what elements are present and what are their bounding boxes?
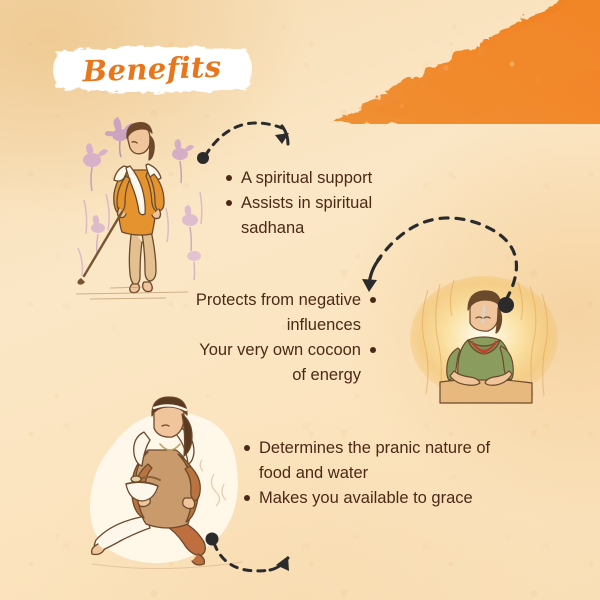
list-item: A spiritual support xyxy=(226,166,416,191)
benefit-text: Determines the pranic nature of food and… xyxy=(259,436,494,486)
list-item: Protects from negative influences xyxy=(186,288,376,338)
benefit-text: Protects from negative influences xyxy=(186,288,361,338)
seated-woman-offering-illustration xyxy=(82,388,264,580)
benefit-text: Your very own cocoon of energy xyxy=(186,338,361,388)
bullet-dot-icon xyxy=(370,347,376,353)
bullet-dot-icon xyxy=(244,445,250,451)
list-item: Your very own cocoon of energy xyxy=(186,338,376,388)
page-title: Benefits xyxy=(51,37,253,102)
bullet-dot-icon xyxy=(370,297,376,303)
list-item: Makes you available to grace xyxy=(244,486,494,511)
list-item: Determines the pranic nature of food and… xyxy=(244,436,494,486)
benefit-block-1: A spiritual support Assists in spiritual… xyxy=(226,166,416,241)
benefit-text: Assists in spiritual sadhana xyxy=(241,191,416,241)
aura-cocoon-illustration xyxy=(406,276,566,404)
benefit-text: A spiritual support xyxy=(241,166,416,191)
bullet-dot-icon xyxy=(226,175,232,181)
benefit-block-2: Protects from negative influences Your v… xyxy=(186,288,376,388)
orange-watercolor-wash xyxy=(306,0,600,124)
benefit-text: Makes you available to grace xyxy=(259,486,494,511)
bullet-dot-icon xyxy=(226,200,232,206)
list-item: Assists in spiritual sadhana xyxy=(226,191,416,241)
title-banner: Benefits xyxy=(52,40,252,98)
walking-sadhaka-illustration xyxy=(70,108,210,308)
benefit-block-3: Determines the pranic nature of food and… xyxy=(244,436,494,511)
benefits-poster: Benefits xyxy=(0,0,600,600)
bullet-dot-icon xyxy=(244,495,250,501)
